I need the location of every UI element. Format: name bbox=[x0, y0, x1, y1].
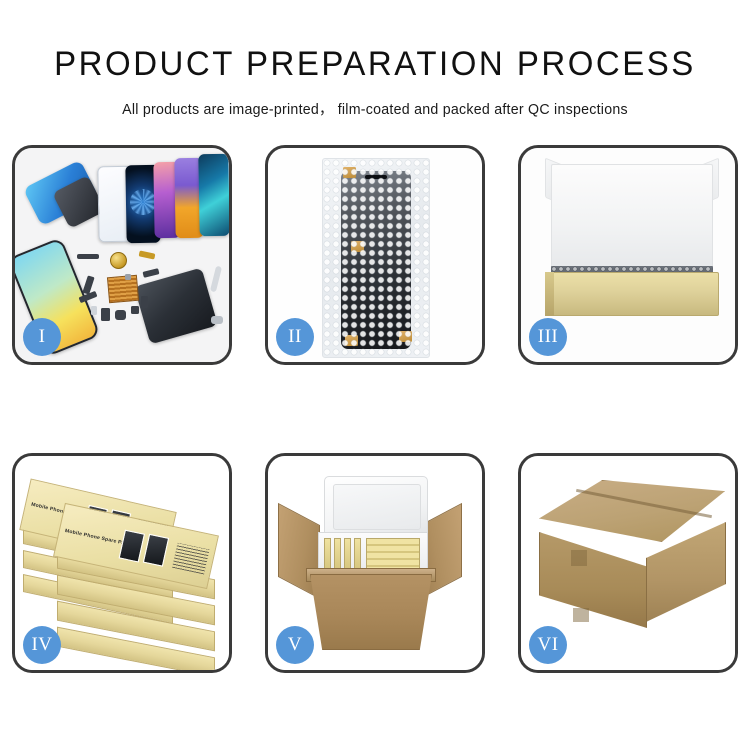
carton-with-foam-cooler-illustration: V bbox=[268, 456, 482, 670]
carton-front-icon bbox=[310, 574, 432, 650]
kraft-box-side-icon bbox=[545, 272, 554, 316]
process-step-panel-1[interactable]: I bbox=[12, 145, 232, 365]
teal-phone-icon bbox=[198, 154, 229, 237]
component-icon bbox=[141, 296, 148, 308]
sealed-carton-illustration: VI bbox=[521, 456, 735, 670]
stacked-retail-boxes-illustration: Mobile Phone Spare Parts Mobile Phone Sp… bbox=[15, 456, 229, 670]
component-icon bbox=[131, 306, 139, 314]
box-label-screen-icon bbox=[119, 530, 145, 563]
process-step-grid: I II bbox=[12, 145, 738, 673]
page-subtitle: All products are image-printed， film-coa… bbox=[8, 81, 743, 119]
open-kraft-box-illustration: III bbox=[521, 148, 735, 362]
component-icon bbox=[210, 266, 222, 293]
step-badge-3: III bbox=[529, 318, 567, 356]
bubble-wrapped-screen-illustration: II bbox=[268, 148, 482, 362]
process-step-panel-5[interactable]: V bbox=[265, 453, 485, 673]
process-step-panel-4[interactable]: Mobile Phone Spare Parts Mobile Phone Sp… bbox=[12, 453, 232, 673]
chip-grid-icon bbox=[107, 275, 139, 304]
product-preparation-page: PRODUCT PREPARATION PROCESS All products… bbox=[0, 0, 750, 750]
carton-tape-tab-icon bbox=[571, 550, 587, 566]
component-icon bbox=[91, 306, 97, 315]
component-icon bbox=[115, 310, 126, 320]
step-badge-4: IV bbox=[23, 626, 61, 664]
page-title: PRODUCT PREPARATION PROCESS bbox=[11, 0, 739, 81]
process-step-panel-2[interactable]: II bbox=[265, 145, 485, 365]
step-badge-1: I bbox=[23, 318, 61, 356]
foam-lid-inner-icon bbox=[333, 484, 421, 530]
white-box-lid-icon bbox=[551, 164, 713, 274]
box-label-screen-icon bbox=[143, 534, 169, 567]
component-icon bbox=[211, 316, 223, 324]
step-badge-5: V bbox=[276, 626, 314, 664]
box-label-spec-lines bbox=[172, 543, 210, 575]
component-icon bbox=[139, 250, 156, 259]
bubble-wrap-bag-icon bbox=[322, 158, 430, 358]
carton-top-face-icon bbox=[539, 480, 725, 542]
component-icon bbox=[125, 274, 131, 280]
page-header: PRODUCT PREPARATION PROCESS All products… bbox=[0, 0, 750, 119]
copper-connector-icon bbox=[110, 252, 127, 269]
process-step-panel-6[interactable]: VI bbox=[518, 453, 738, 673]
step-badge-2: II bbox=[276, 318, 314, 356]
parts-overview-illustration: I bbox=[15, 148, 229, 362]
carton-left-face-icon bbox=[539, 532, 647, 628]
foam-cooler-lid-icon bbox=[324, 476, 428, 538]
component-icon bbox=[143, 268, 160, 278]
step-badge-6: VI bbox=[529, 626, 567, 664]
component-icon bbox=[77, 254, 99, 259]
component-icon bbox=[101, 308, 110, 321]
bubble-texture-icon bbox=[323, 159, 429, 357]
kraft-box-base-icon bbox=[545, 272, 719, 316]
carton-tape-tab-icon bbox=[573, 608, 589, 622]
process-step-panel-3[interactable]: III bbox=[518, 145, 738, 365]
